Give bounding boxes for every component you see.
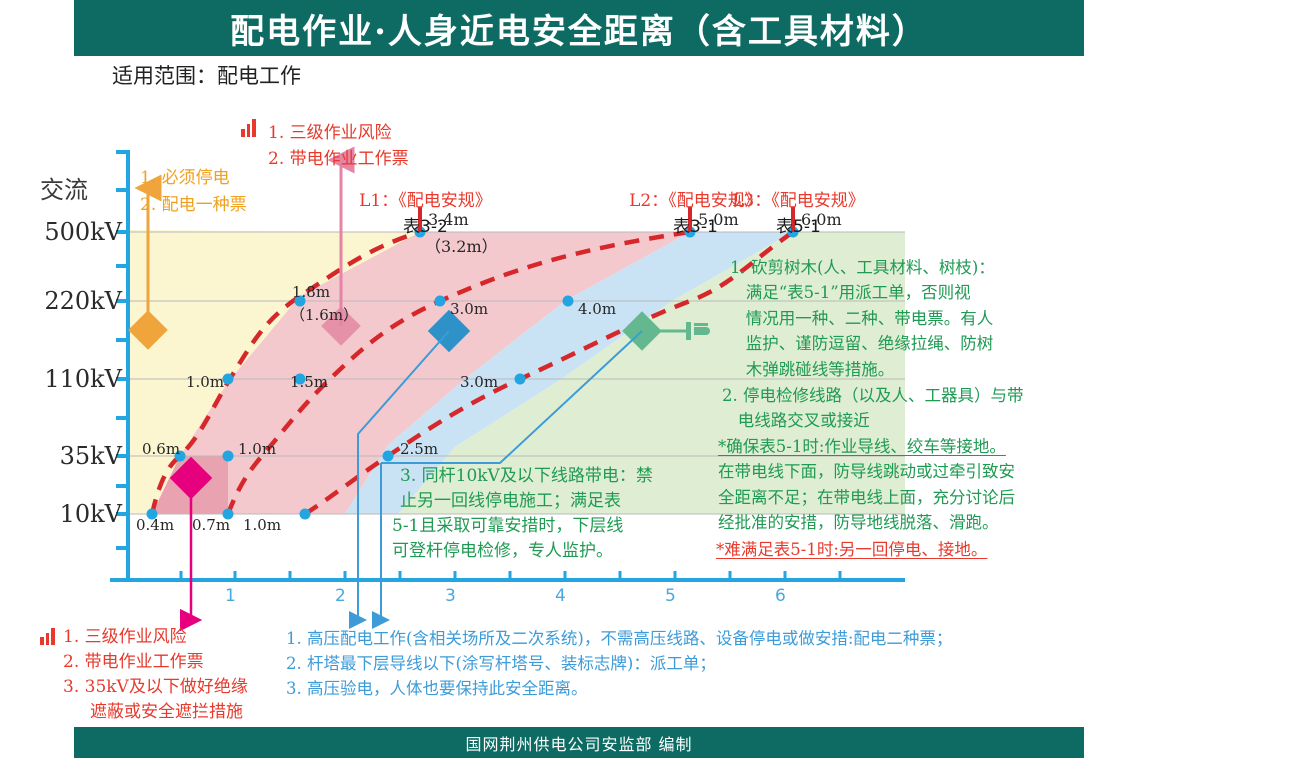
orange-note-line1: 1. 必须停电 — [140, 163, 230, 188]
orange-note-line2: 2. 配电一种票 — [140, 190, 247, 215]
y-tick-35kv: 35kV — [22, 442, 122, 470]
x-tick-4: 4 — [555, 586, 566, 606]
right-note-line-4: 监护、谨防逗留、绝缘拉绳、防树 — [730, 331, 993, 357]
footer-bar: 国网荆州供电公司安监部 编制 — [74, 727, 1084, 758]
bottom-red-line-2: 2. 带电作业工作票 — [63, 650, 204, 675]
center-box-line-4: 可登杆停电检修，专人监护。 — [392, 539, 613, 564]
x-tick-6: 6 — [775, 586, 786, 606]
point-label-2-5m: 2.5m — [400, 440, 438, 458]
bar-chart-icon — [241, 118, 258, 136]
l1-table: 表3-2 — [340, 192, 500, 237]
right-note-line-8: *确保表5-1时:作业导线、绞车等接地。 — [718, 434, 1006, 460]
bottom-blue-line-1: 1. 高压配电工作(含相关场所及二次系统)，不需高压线路、设备停电或做安措:配电… — [286, 626, 952, 651]
right-note-line-5: 木弹跳碰线等措施。 — [730, 357, 894, 383]
y-axis-title: 交流 — [40, 170, 88, 205]
bottom-blue-line-3: 3. 高压验电，人体也要保持此安全距离。 — [286, 676, 588, 701]
bottom-red-line-3: 3. 35kV及以下做好绝缘 — [63, 675, 248, 700]
point-label-1-6m: （1.6m） — [290, 304, 358, 325]
right-note-line-10: 全距离不足；在带电线上面，充分讨论后 — [718, 485, 1015, 511]
right-note-line-1: 1. 砍剪树木(人、工具材料、树枝)： — [730, 255, 995, 281]
point-label-0-4m: 0.4m — [136, 516, 174, 534]
l1-value: 3.4m — [428, 210, 469, 229]
l3-value: 6.0m — [801, 210, 842, 229]
point-label-0-6m: 0.6m — [142, 440, 180, 458]
bottom-red-line-4: 遮蔽或安全遮拦措施 — [63, 700, 243, 725]
y-tick-500kv: 500kV — [22, 218, 122, 246]
right-note-line-6: 2. 停电检修线路（以及人、工器具）与带 — [722, 383, 1024, 409]
bottom-blue-line-2: 2. 杆塔最下层导线以下(涂写杆塔号、装标志牌)：派工单； — [286, 651, 716, 676]
x-axis — [110, 571, 905, 580]
x-tick-2: 2 — [335, 586, 346, 606]
point-label-4-0m: 4.0m — [578, 300, 616, 318]
l1-alt-value: （3.2m） — [425, 233, 498, 257]
y-tick-110kv: 110kV — [22, 365, 122, 393]
point-label-1-0m-b: 1.0m — [238, 440, 276, 458]
point-label-3-0m-b: 3.0m — [450, 300, 488, 318]
x-tick-1: 1 — [225, 586, 236, 606]
right-note-line-2: 满足“表5-1”用派工单，否则视 — [730, 280, 971, 306]
x-tick-5: 5 — [665, 586, 676, 606]
y-tick-220kv: 220kV — [22, 287, 122, 315]
point-label-3-0m-a: 3.0m — [460, 373, 498, 391]
right-note-line-7: 电线路交叉或接近 — [722, 408, 870, 434]
footer-text: 国网荆州供电公司安监部 编制 — [465, 731, 692, 755]
right-note-line-9: 在带电线下面，防导线跳动或过牵引致安 — [718, 459, 1015, 485]
point-label-1-8m: 1.8m — [292, 283, 330, 301]
top-note-line1: 1. 三级作业风险 — [268, 118, 392, 143]
point-label-0-7m: 0.7m — [192, 516, 230, 534]
y-tick-10kv: 10kV — [22, 500, 122, 528]
center-box-line-1: 3. 同杆10kV及以下线路带电：禁 — [400, 464, 653, 489]
point-label-1-0m-a: 1.0m — [243, 516, 281, 534]
center-box-line-2: 止另一回线停电施工；满足表 — [400, 489, 621, 514]
center-box-line-3: 5-1且采取可靠安措时，下层线 — [392, 514, 623, 539]
x-tick-3: 3 — [445, 586, 456, 606]
right-note-line-3: 情况用一种、二种、带电票。有人 — [730, 306, 993, 332]
right-note-red-line: *难满足表5-1时:另一回停电、接地。 — [716, 536, 987, 560]
right-note-line-11: 经批准的安措，防导地线脱落、滑跑。 — [718, 510, 999, 536]
point-label-1-5m: 1.5m — [290, 373, 328, 391]
bottom-red-line-1: 1. 三级作业风险 — [63, 625, 187, 650]
point-label-1-0m-c: 1.0m — [186, 373, 224, 391]
l3-table: 表5-1 — [713, 192, 873, 237]
bar-chart-icon-bottom — [40, 626, 57, 643]
